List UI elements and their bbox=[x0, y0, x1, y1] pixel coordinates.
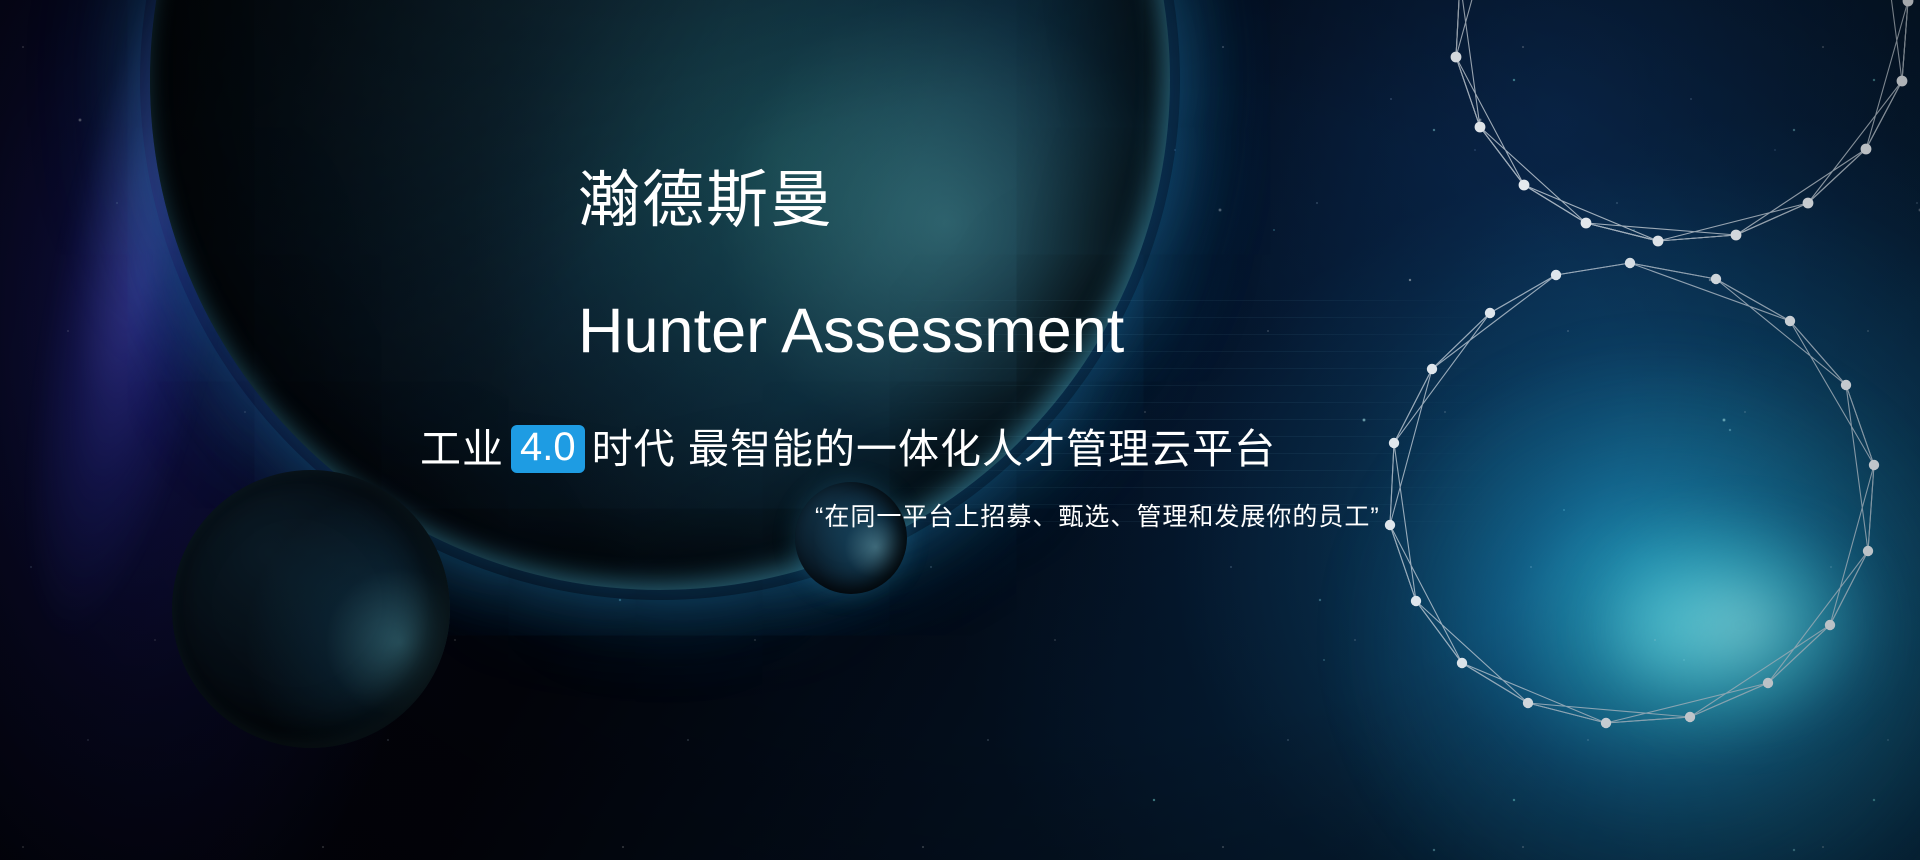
tagline: 工业 4.0 时代 最智能的一体化人才管理云平台 bbox=[420, 425, 1276, 473]
tagline-quote: “在同一平台上招募、甄选、管理和发展你的员工” bbox=[815, 505, 1380, 530]
brand-name-en: Hunter Assessment bbox=[578, 300, 1124, 363]
brand-name-cn: 瀚德斯曼 bbox=[578, 170, 834, 232]
tagline-after: 时代 最智能的一体化人才管理云平台 bbox=[592, 429, 1276, 470]
hero-banner: 瀚德斯曼 Hunter Assessment 工业 4.0 时代 最智能的一体化… bbox=[0, 0, 1920, 860]
tagline-before: 工业 bbox=[420, 429, 504, 470]
hero-content: 瀚德斯曼 Hunter Assessment 工业 4.0 时代 最智能的一体化… bbox=[0, 0, 1920, 860]
industry-version-badge: 4.0 bbox=[511, 425, 585, 473]
